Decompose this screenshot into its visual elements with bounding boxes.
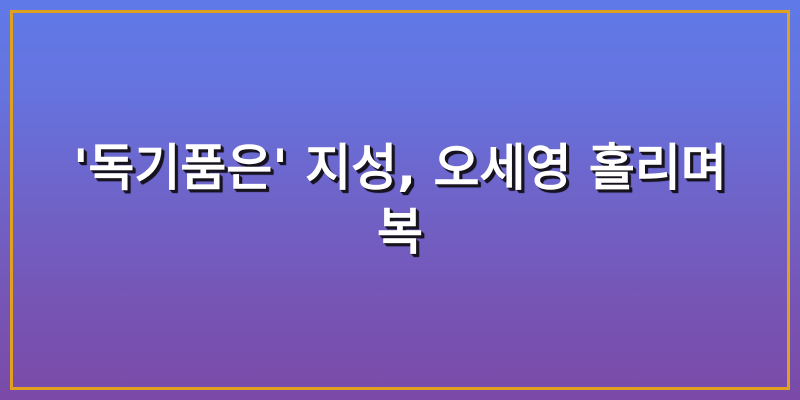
page-title: '독기품은' 지성, 오세영 홀리며 복: [46, 136, 754, 264]
title-card: '독기품은' 지성, 오세영 홀리며 복: [0, 0, 800, 400]
headline-container: '독기품은' 지성, 오세영 홀리며 복: [0, 0, 800, 400]
